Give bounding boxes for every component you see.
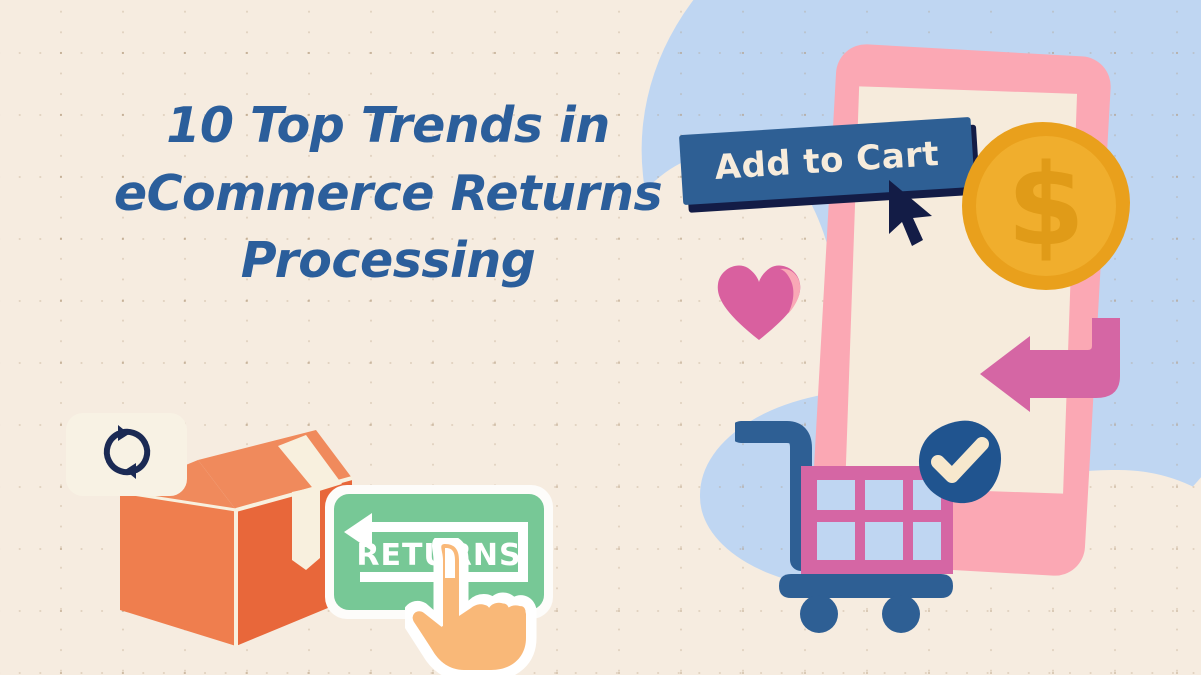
hand-pointer-icon	[405, 538, 539, 675]
heart-icon	[716, 262, 802, 342]
refresh-badge	[66, 413, 187, 496]
check-circle-icon	[918, 420, 1002, 504]
page-title-line-1: 10 Top Trends in	[88, 92, 688, 160]
page-title-line-2: eCommerce Returns	[88, 160, 688, 228]
page-title-line-3: Processing	[88, 227, 688, 295]
return-arrow-icon	[978, 316, 1120, 412]
poster-canvas: 10 Top Trends in eCommerce Returns Proce…	[0, 0, 1201, 675]
arrow-cursor-icon	[885, 178, 941, 250]
refresh-arrows-icon	[96, 421, 158, 488]
coin-icon: $	[962, 122, 1130, 290]
page-title: 10 Top Trends in eCommerce Returns Proce…	[88, 92, 688, 295]
coin-dollar-symbol: $	[962, 122, 1130, 290]
